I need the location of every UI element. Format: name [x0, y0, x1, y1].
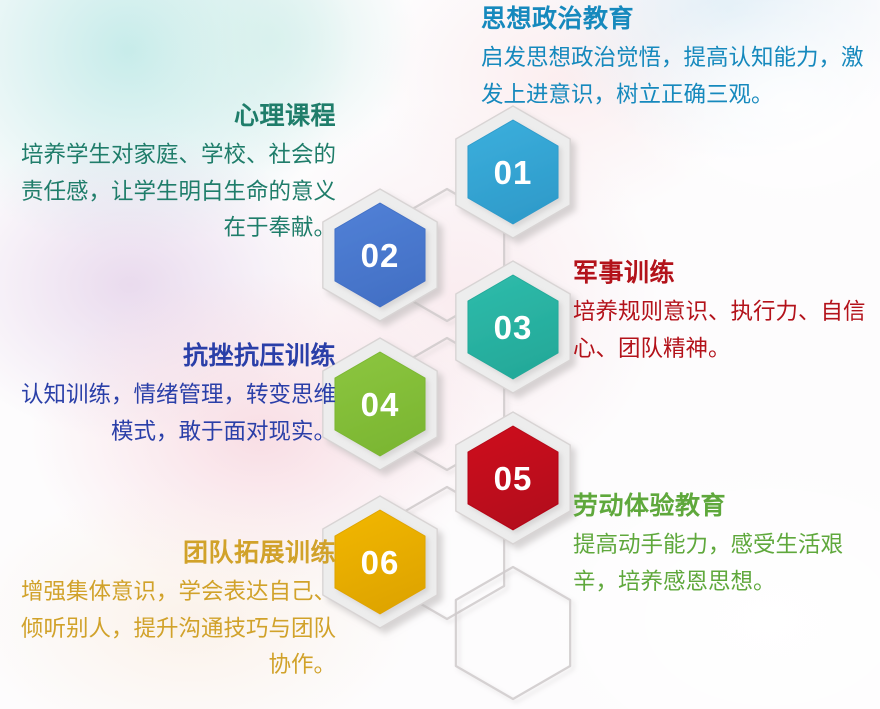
- hex-02-number: 02: [361, 237, 400, 274]
- block-03: 军事训练培养规则意识、执行力、自信心、团队精神。: [573, 258, 873, 367]
- hex-04[interactable]: 04: [323, 338, 437, 470]
- hex-05-number: 05: [494, 460, 533, 497]
- block-05: 劳动体验教育提高动手能力，感受生活艰辛，培养感恩思想。: [573, 491, 873, 600]
- hex-01-number: 01: [494, 154, 533, 191]
- empty-hexagon-4: [456, 567, 570, 699]
- hex-03-number: 03: [494, 309, 533, 346]
- block-03-title: 军事训练: [573, 258, 873, 289]
- block-01-body: 启发思想政治觉悟，提高认知能力，激发上进意识，树立正确三观。: [481, 40, 871, 113]
- block-04-body: 认知训练，情绪管理，转变思维模式，敢于面对现实。: [18, 377, 336, 450]
- block-01-title: 思想政治教育: [481, 4, 871, 35]
- block-02: 心理课程培养学生对家庭、学校、社会的责任感，让学生明白生命的意义在于奉献。: [18, 101, 336, 247]
- infographic-canvas: 010203040506 思想政治教育启发思想政治觉悟，提高认知能力，激发上进意…: [0, 0, 880, 709]
- block-04-title: 抗挫抗压训练: [18, 341, 336, 372]
- hex-05[interactable]: 05: [456, 412, 570, 544]
- block-02-body: 培养学生对家庭、学校、社会的责任感，让学生明白生命的意义在于奉献。: [18, 137, 336, 246]
- block-06-title: 团队拓展训练: [18, 538, 336, 569]
- block-06: 团队拓展训练增强集体意识，学会表达自己、倾听别人，提升沟通技巧与团队协作。: [18, 538, 336, 684]
- block-06-body: 增强集体意识，学会表达自己、倾听别人，提升沟通技巧与团队协作。: [18, 574, 336, 683]
- hex-06[interactable]: 06: [323, 496, 437, 628]
- hex-03[interactable]: 03: [456, 261, 570, 393]
- block-05-body: 提高动手能力，感受生活艰辛，培养感恩思想。: [573, 527, 873, 600]
- block-04: 抗挫抗压训练认知训练，情绪管理，转变思维模式，敢于面对现实。: [18, 341, 336, 450]
- block-03-body: 培养规则意识、执行力、自信心、团队精神。: [573, 294, 873, 367]
- hex-04-number: 04: [361, 386, 400, 423]
- block-02-title: 心理课程: [18, 101, 336, 132]
- hex-02[interactable]: 02: [323, 189, 437, 321]
- hex-01[interactable]: 01: [456, 106, 570, 238]
- block-05-title: 劳动体验教育: [573, 491, 873, 522]
- hex-06-number: 06: [361, 544, 400, 581]
- block-01: 思想政治教育启发思想政治觉悟，提高认知能力，激发上进意识，树立正确三观。: [481, 4, 871, 113]
